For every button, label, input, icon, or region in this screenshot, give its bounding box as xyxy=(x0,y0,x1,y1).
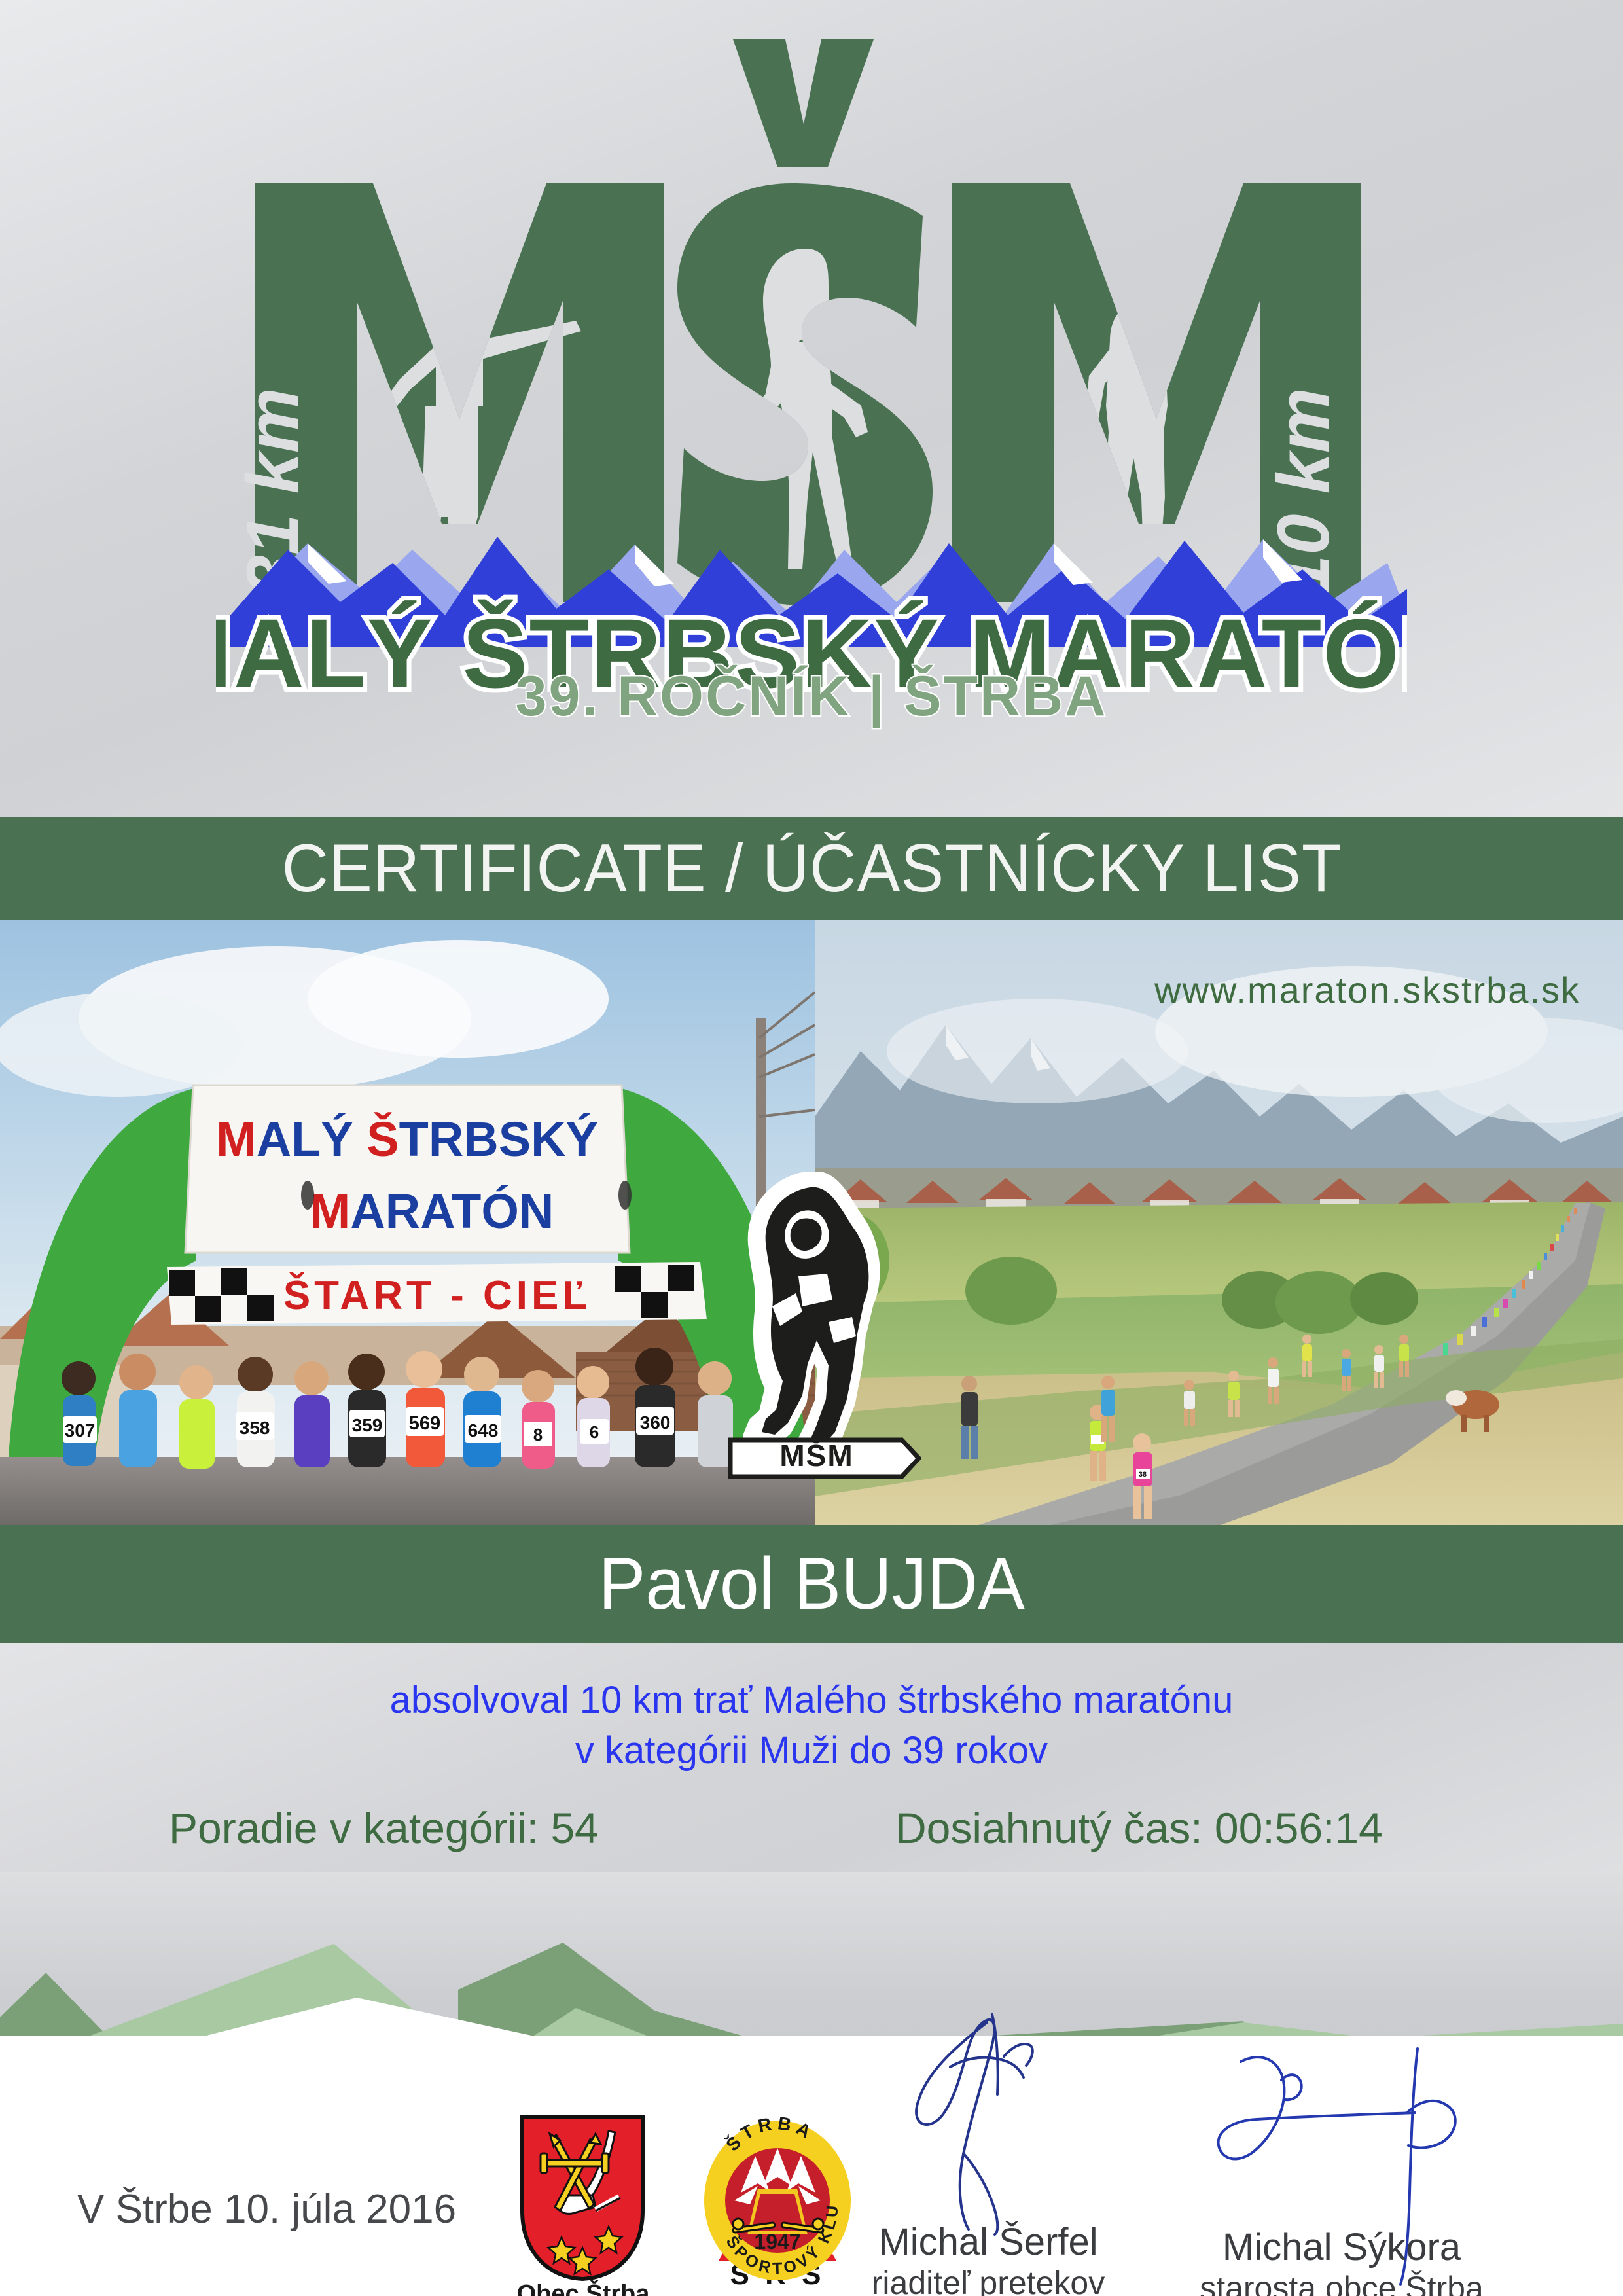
svg-text:359: 359 xyxy=(352,1415,383,1435)
msm-logo: 31 km 10 km MALÝ ŠTRBSKÝ MARATÓN 39. ROČ… xyxy=(0,26,1623,713)
signatory-2-name: Michal Sýkora xyxy=(1198,2225,1486,2269)
achievement-text: absolvoval 10 km trať Malého štrbského m… xyxy=(0,1676,1623,1776)
sks-year: 1947 xyxy=(754,2230,800,2253)
signatory-1-role: riaditeľ pretekov xyxy=(851,2264,1126,2296)
certificate-title: CERTIFICATE / ÚČASTNÍCKY LIST xyxy=(281,834,1342,903)
signatory-1-name: Michal Šerfel xyxy=(851,2220,1126,2264)
svg-text:MŠM: MŠM xyxy=(779,1439,853,1473)
svg-text:MALÝ ŠTRBSKÝ: MALÝ ŠTRBSKÝ xyxy=(216,1112,598,1166)
finish-time: Dosiahnutý čas: 00:56:14 xyxy=(895,1806,1383,1850)
start-line-photo: MALÝ ŠTRBSKÝ MARATÓN ŠTART - CIEĽ xyxy=(0,920,815,1525)
svg-text:38: 38 xyxy=(1139,1471,1147,1479)
msm-runner-emblem: MŠM xyxy=(725,1172,921,1479)
signatory-2-role: starosta obce Štrba xyxy=(1198,2269,1486,2296)
svg-text:569: 569 xyxy=(409,1413,440,1434)
achievement-line-1: absolvoval 10 km trať Malého štrbského m… xyxy=(0,1676,1623,1726)
finish-time-label: Dosiahnutý čas: xyxy=(895,1804,1203,1852)
msm-logo-graphic: 31 km 10 km MALÝ ŠTRBSKÝ MARATÓN xyxy=(216,26,1407,713)
signature-block-2: Michal Sýkora starosta obce Štrba xyxy=(1198,2225,1486,2296)
finish-time-value: 00:56:14 xyxy=(1215,1804,1383,1852)
svg-text:8: 8 xyxy=(533,1425,543,1444)
svg-text:358: 358 xyxy=(240,1418,270,1438)
svg-text:MARATÓN: MARATÓN xyxy=(310,1184,554,1238)
logo-subtitle: 39. ROČNÍK | ŠTRBA xyxy=(0,664,1623,729)
place-date: V Štrbe 10. júla 2016 xyxy=(77,2186,456,2233)
certificate-page: 31 km 10 km MALÝ ŠTRBSKÝ MARATÓN 39. ROČ… xyxy=(0,0,1623,2296)
svg-text:307: 307 xyxy=(65,1420,96,1441)
achievement-line-2: v kategórii Muži do 39 rokov xyxy=(0,1726,1623,1776)
svg-text:648: 648 xyxy=(468,1420,499,1441)
obec-strba-label: Obec Štrba xyxy=(497,2280,669,2296)
footer: V Štrbe 10. júla 2016 xyxy=(0,2036,1623,2296)
category-rank: Poradie v kategórii: 54 xyxy=(169,1806,599,1850)
category-rank-value: 54 xyxy=(550,1804,598,1852)
svg-text:360: 360 xyxy=(640,1412,671,1433)
website-url: www.maraton.skstrba.sk xyxy=(1154,969,1580,1011)
obec-strba-crest-icon xyxy=(517,2113,648,2283)
course-photo: 38 www.maraton.skstrba.sk xyxy=(815,920,1623,1525)
svg-text:6: 6 xyxy=(590,1422,599,1442)
sks-club-logo-icon: Š K Š 1947 xyxy=(695,2109,860,2296)
svg-text:ŠTART - CIEĽ: ŠTART - CIEĽ xyxy=(283,1273,591,1318)
signature-block-1: Michal Šerfel riaditeľ pretekov xyxy=(851,2220,1126,2296)
category-rank-label: Poradie v kategórii: xyxy=(169,1804,539,1852)
certificate-banner: CERTIFICATE / ÚČASTNÍCKY LIST xyxy=(0,817,1623,920)
participant-name: Pavol BUJDA xyxy=(598,1547,1024,1621)
participant-name-banner: Pavol BUJDA xyxy=(0,1525,1623,1643)
